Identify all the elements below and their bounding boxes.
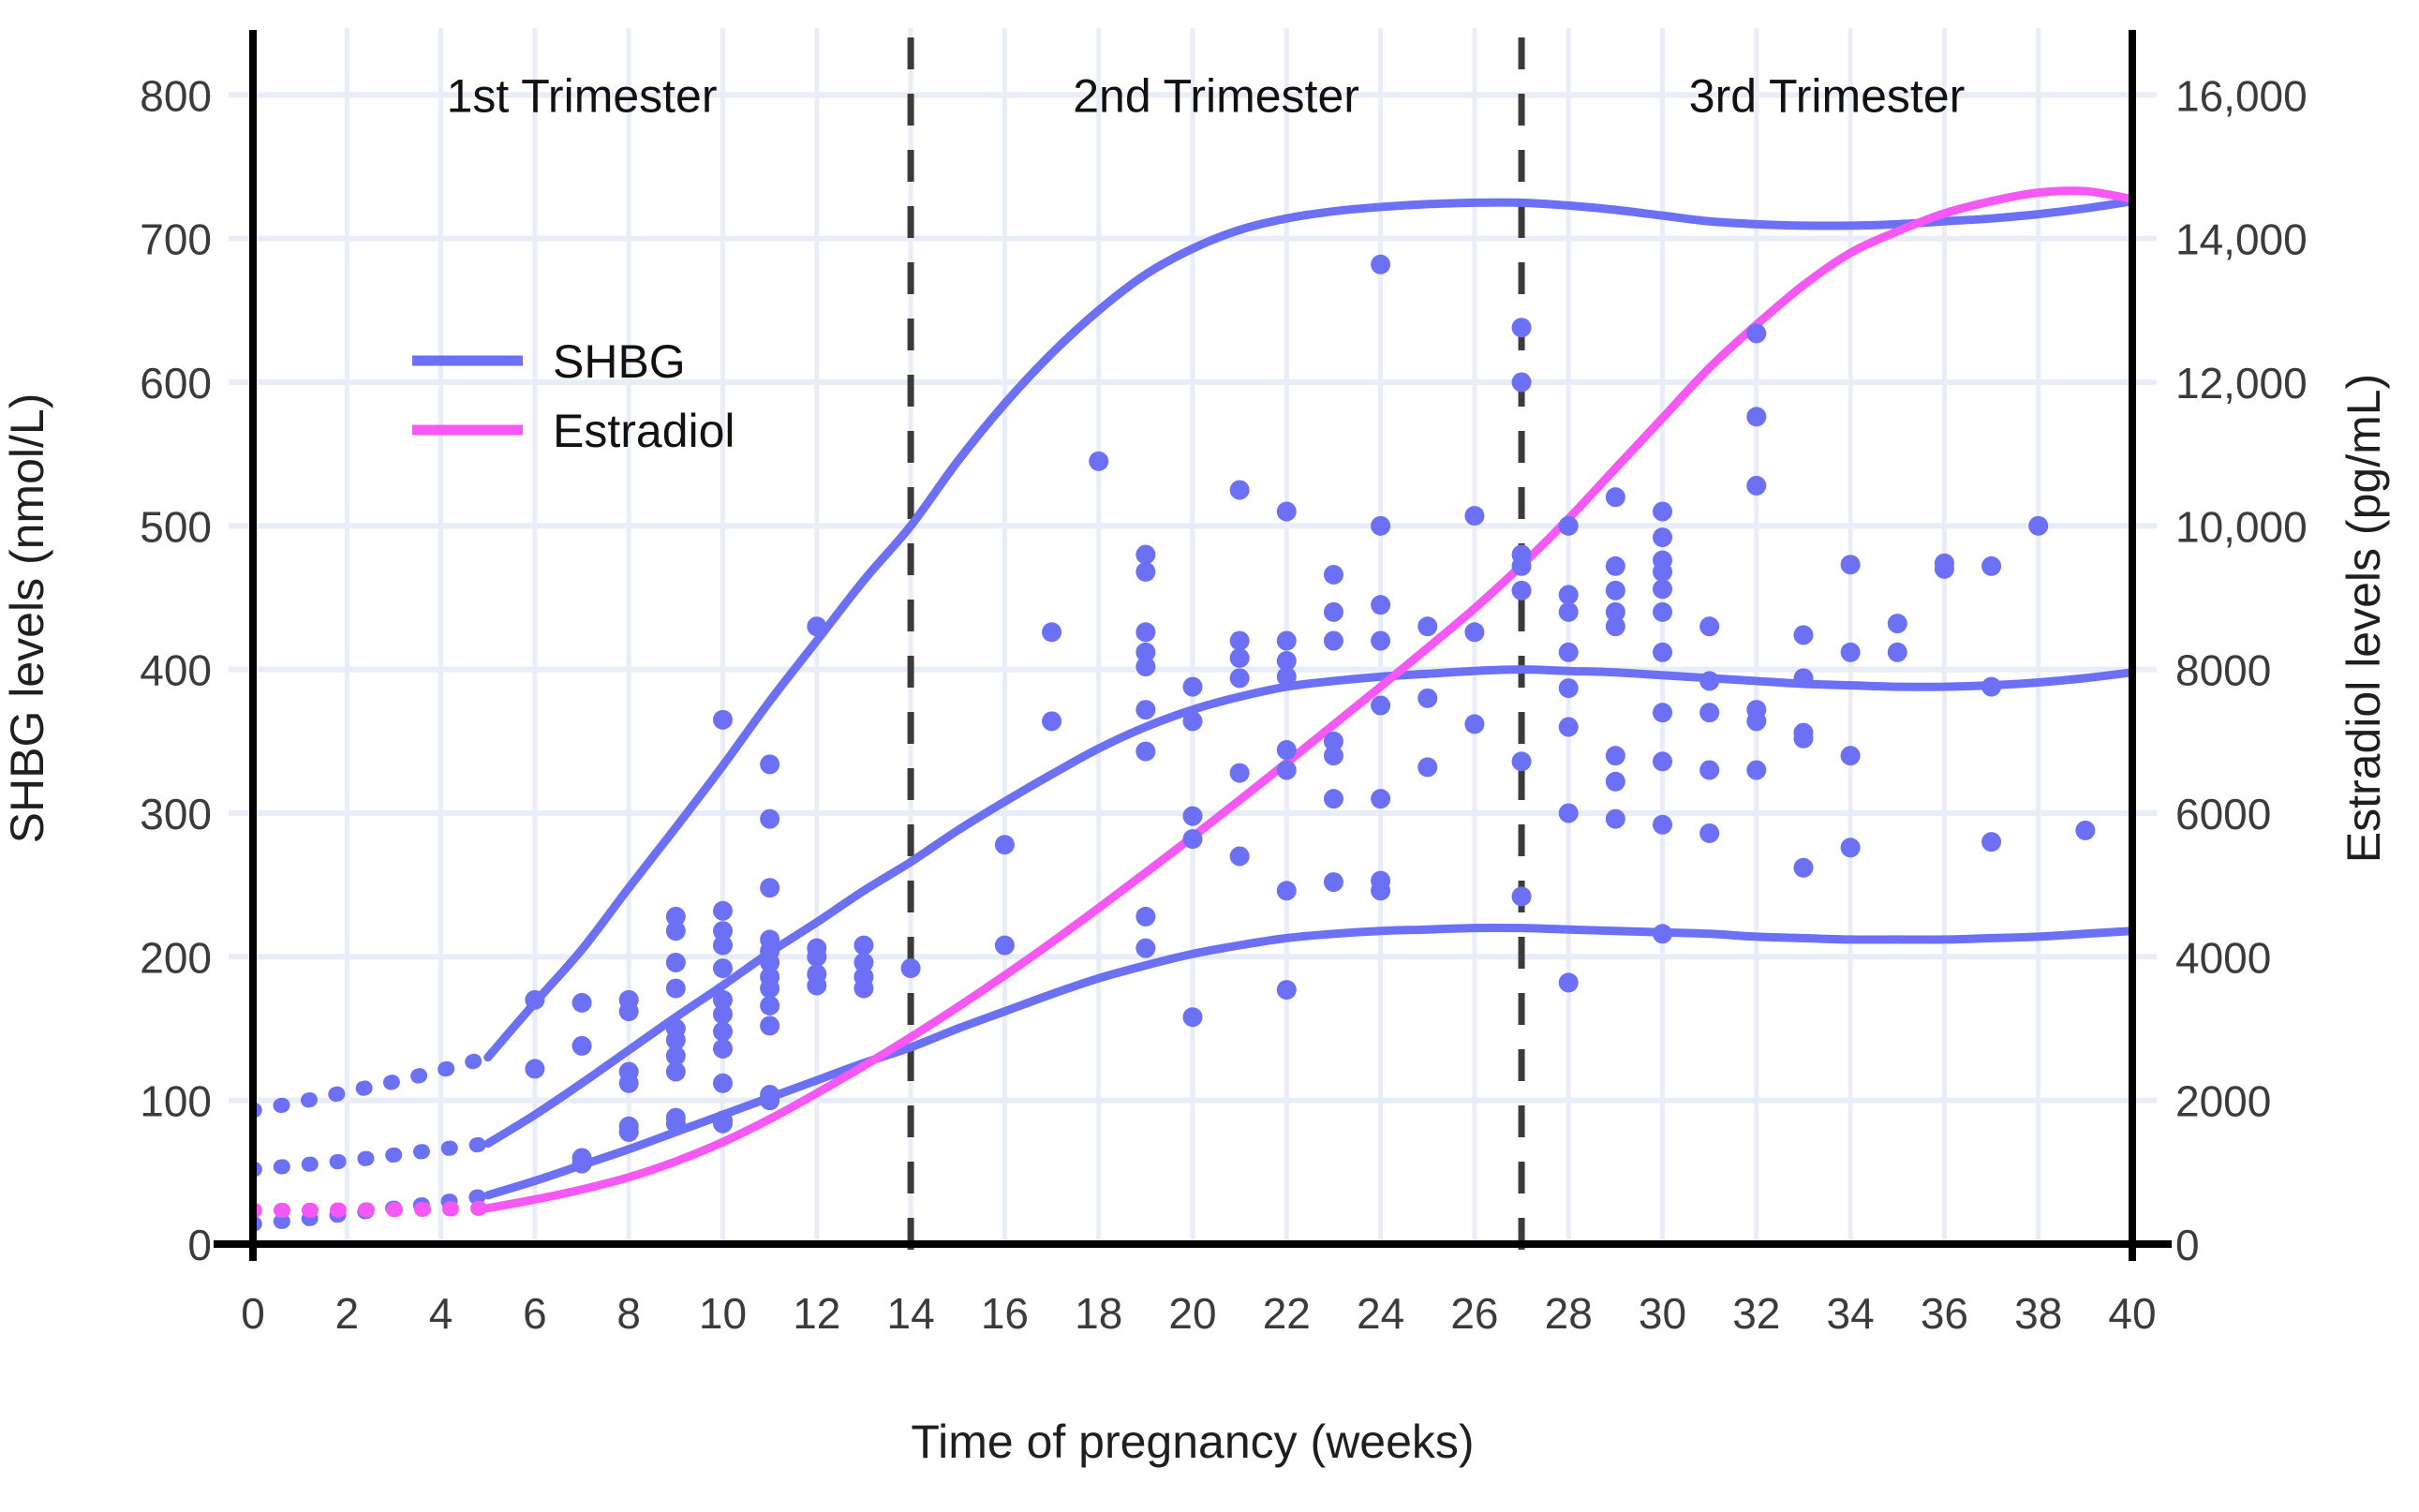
scatter-point bbox=[666, 979, 686, 999]
scatter-point bbox=[1135, 700, 1155, 719]
scatter-point bbox=[1793, 729, 1813, 749]
x-tick-label: 24 bbox=[1357, 1289, 1404, 1338]
scatter-point bbox=[760, 809, 779, 829]
scatter-point bbox=[572, 993, 592, 1013]
x-tick-label: 22 bbox=[1263, 1289, 1311, 1338]
scatter-point bbox=[1324, 631, 1343, 651]
x-tick-label: 18 bbox=[1075, 1289, 1122, 1338]
scatter-point bbox=[1371, 696, 1390, 716]
chart-canvas: 0246810121416182022242628303234363840 01… bbox=[0, 0, 2419, 1512]
x-tick-label: 28 bbox=[1545, 1289, 1593, 1338]
scatter-point bbox=[1277, 740, 1297, 760]
scatter-point bbox=[1653, 527, 1672, 547]
scatter-point bbox=[1042, 622, 1061, 642]
scatter-point bbox=[1371, 516, 1390, 536]
scatter-point bbox=[760, 996, 779, 1015]
scatter-point bbox=[1793, 625, 1813, 645]
scatter-point bbox=[1699, 823, 1719, 843]
secondary-y-tick-label: 4000 bbox=[2175, 933, 2271, 982]
secondary-y-tick-label: 0 bbox=[2175, 1221, 2200, 1269]
scatter-point bbox=[1699, 616, 1719, 636]
scatter-point bbox=[1793, 858, 1813, 878]
scatter-point bbox=[807, 976, 826, 996]
scatter-point bbox=[1559, 516, 1579, 536]
scatter-point bbox=[1230, 648, 1250, 668]
scatter-point bbox=[1512, 581, 1532, 600]
scatter-point bbox=[1277, 980, 1297, 1000]
scatter-point bbox=[1512, 373, 1532, 393]
x-tick-label: 12 bbox=[793, 1289, 840, 1338]
scatter-point bbox=[572, 1149, 592, 1168]
scatter-point bbox=[1324, 565, 1343, 585]
y-tick-label: 100 bbox=[140, 1077, 212, 1126]
scatter-point bbox=[1653, 924, 1672, 943]
scatter-point bbox=[1559, 718, 1579, 737]
scatter-point bbox=[1559, 585, 1579, 604]
figure-background bbox=[0, 0, 2419, 1512]
trend-line bbox=[253, 1208, 488, 1210]
scatter-point bbox=[1841, 746, 1861, 765]
x-tick-label: 4 bbox=[429, 1289, 453, 1338]
scatter-point bbox=[1512, 751, 1532, 771]
scatter-point bbox=[1653, 703, 1672, 722]
scatter-point bbox=[1793, 668, 1813, 688]
scatter-point bbox=[1699, 671, 1719, 690]
y-axis-title: SHBG levels (nmol/L) bbox=[1, 393, 53, 844]
scatter-point bbox=[1135, 545, 1155, 565]
scatter-point bbox=[1935, 559, 1954, 579]
scatter-point bbox=[1653, 602, 1672, 622]
scatter-point bbox=[572, 1036, 592, 1056]
scatter-point bbox=[1183, 711, 1203, 731]
scatter-point bbox=[1371, 595, 1390, 615]
scatter-point bbox=[1135, 622, 1155, 642]
scatter-point bbox=[853, 979, 873, 999]
scatter-point bbox=[1746, 323, 1766, 343]
y-tick-label: 400 bbox=[140, 646, 212, 695]
y-tick-label: 0 bbox=[187, 1221, 212, 1269]
scatter-point bbox=[713, 1074, 733, 1093]
x-tick-label: 40 bbox=[2108, 1289, 2156, 1338]
legend-label: SHBG bbox=[553, 335, 686, 388]
x-tick-label: 32 bbox=[1732, 1289, 1780, 1338]
scatter-point bbox=[1653, 562, 1672, 582]
scatter-point bbox=[1277, 881, 1297, 900]
scatter-point bbox=[525, 990, 544, 1010]
scatter-point bbox=[2075, 821, 2095, 840]
scatter-point bbox=[807, 947, 826, 967]
scatter-point bbox=[619, 1074, 639, 1093]
x-tick-label: 34 bbox=[1827, 1289, 1875, 1338]
scatter-point bbox=[619, 1122, 639, 1142]
y-tick-label: 500 bbox=[140, 502, 212, 551]
scatter-point bbox=[1746, 711, 1766, 731]
scatter-point bbox=[1277, 667, 1297, 687]
x-tick-label: 16 bbox=[981, 1289, 1029, 1338]
scatter-point bbox=[1606, 556, 1625, 576]
scatter-point bbox=[1183, 807, 1203, 826]
scatter-point bbox=[760, 1090, 779, 1110]
scatter-point bbox=[995, 936, 1015, 956]
secondary-y-tick-label: 12,000 bbox=[2175, 359, 2308, 408]
scatter-point bbox=[1324, 746, 1343, 765]
trimester-label: 1st Trimester bbox=[447, 69, 718, 122]
scatter-point bbox=[760, 754, 779, 774]
secondary-y-tick-label: 6000 bbox=[2175, 790, 2271, 838]
scatter-point bbox=[1183, 677, 1203, 697]
scatter-point bbox=[1324, 789, 1343, 808]
x-axis-title: Time of pregnancy (weeks) bbox=[911, 1416, 1474, 1468]
x-tick-label: 30 bbox=[1639, 1289, 1686, 1338]
scatter-point bbox=[1699, 761, 1719, 780]
scatter-point bbox=[1324, 872, 1343, 892]
scatter-point bbox=[760, 1015, 779, 1035]
chart-figure: 0246810121416182022242628303234363840 01… bbox=[0, 0, 2419, 1512]
scatter-point bbox=[713, 936, 733, 956]
scatter-point bbox=[713, 958, 733, 978]
scatter-point bbox=[1089, 452, 1108, 471]
trimester-label: 3rd Trimester bbox=[1689, 69, 1966, 122]
trimester-label: 2nd Trimester bbox=[1073, 69, 1359, 122]
scatter-point bbox=[1606, 772, 1625, 792]
scatter-point bbox=[1981, 677, 2001, 697]
scatter-point bbox=[1464, 622, 1484, 642]
scatter-point bbox=[1746, 407, 1766, 426]
scatter-point bbox=[666, 1062, 686, 1082]
scatter-point bbox=[1888, 643, 1907, 662]
scatter-point bbox=[713, 1039, 733, 1059]
x-tick-label: 14 bbox=[887, 1289, 935, 1338]
scatter-point bbox=[1841, 555, 1861, 574]
scatter-point bbox=[1230, 668, 1250, 688]
scatter-point bbox=[1230, 763, 1250, 783]
scatter-point bbox=[713, 1022, 733, 1042]
x-tick-label: 36 bbox=[1921, 1289, 1968, 1338]
scatter-point bbox=[1559, 678, 1579, 698]
scatter-point bbox=[1135, 657, 1155, 676]
scatter-point bbox=[1371, 871, 1390, 891]
scatter-point bbox=[1135, 907, 1155, 926]
scatter-point bbox=[1653, 643, 1672, 662]
scatter-point bbox=[1888, 614, 1907, 633]
scatter-point bbox=[619, 1001, 639, 1021]
scatter-point bbox=[853, 936, 873, 956]
scatter-point bbox=[666, 953, 686, 972]
scatter-point bbox=[1981, 556, 2001, 576]
y-axis-tick-labels: 0100200300400500600700800 bbox=[140, 71, 212, 1269]
x-tick-label: 26 bbox=[1450, 1289, 1498, 1338]
scatter-point bbox=[1606, 809, 1625, 829]
scatter-point bbox=[1981, 832, 2001, 852]
scatter-point bbox=[1559, 643, 1579, 662]
scatter-point bbox=[1746, 476, 1766, 496]
scatter-point bbox=[1746, 761, 1766, 780]
scatter-point bbox=[666, 1114, 686, 1134]
scatter-point bbox=[1606, 487, 1625, 507]
scatter-point bbox=[1606, 616, 1625, 636]
x-tick-label: 6 bbox=[523, 1289, 547, 1338]
scatter-point bbox=[1183, 1007, 1203, 1027]
scatter-point bbox=[1371, 255, 1390, 274]
legend-label: Estradiol bbox=[553, 405, 735, 457]
scatter-point bbox=[1277, 502, 1297, 522]
scatter-point bbox=[1230, 631, 1250, 651]
scatter-point bbox=[1371, 631, 1390, 651]
scatter-point bbox=[525, 1059, 544, 1078]
scatter-point bbox=[995, 835, 1015, 854]
scatter-point bbox=[1606, 581, 1625, 600]
scatter-point bbox=[713, 1004, 733, 1024]
x-tick-label: 8 bbox=[616, 1289, 641, 1338]
scatter-point bbox=[1230, 847, 1250, 867]
y-tick-label: 800 bbox=[140, 71, 212, 120]
secondary-y-tick-label: 8000 bbox=[2175, 646, 2271, 695]
y-tick-label: 300 bbox=[140, 790, 212, 838]
scatter-point bbox=[1653, 815, 1672, 835]
scatter-point bbox=[1512, 886, 1532, 906]
scatter-point bbox=[1699, 703, 1719, 722]
scatter-point bbox=[1653, 502, 1672, 522]
scatter-point bbox=[713, 710, 733, 730]
scatter-point bbox=[901, 958, 921, 978]
scatter-point bbox=[713, 1114, 733, 1134]
scatter-point bbox=[760, 878, 779, 897]
x-tick-label: 38 bbox=[2014, 1289, 2062, 1338]
scatter-point bbox=[1135, 562, 1155, 582]
scatter-point bbox=[1559, 804, 1579, 823]
scatter-point bbox=[1559, 972, 1579, 992]
secondary-y-axis-title: Estradiol levels (pg/mL) bbox=[2337, 374, 2390, 863]
scatter-point bbox=[2028, 516, 2048, 536]
scatter-point bbox=[760, 979, 779, 999]
trimester-annotations: 1st Trimester2nd Trimester3rd Trimester bbox=[447, 69, 1966, 122]
scatter-point bbox=[1183, 829, 1203, 849]
scatter-point bbox=[1277, 631, 1297, 651]
scatter-point bbox=[807, 616, 826, 636]
x-tick-label: 0 bbox=[241, 1289, 265, 1338]
scatter-point bbox=[1417, 689, 1437, 708]
x-axis-tick-labels: 0246810121416182022242628303234363840 bbox=[241, 1289, 2156, 1338]
scatter-point bbox=[1277, 761, 1297, 780]
scatter-point bbox=[1230, 481, 1250, 500]
scatter-point bbox=[1464, 506, 1484, 526]
x-tick-label: 20 bbox=[1168, 1289, 1216, 1338]
scatter-point bbox=[1135, 939, 1155, 958]
scatter-point bbox=[1464, 714, 1484, 734]
scatter-point bbox=[1559, 602, 1579, 622]
x-tick-label: 2 bbox=[335, 1289, 360, 1338]
scatter-point bbox=[1371, 789, 1390, 808]
scatter-point bbox=[1606, 746, 1625, 765]
y-tick-label: 600 bbox=[140, 359, 212, 408]
scatter-point bbox=[1042, 711, 1061, 731]
secondary-y-tick-label: 14,000 bbox=[2175, 215, 2308, 264]
scatter-point bbox=[1653, 579, 1672, 599]
scatter-point bbox=[1324, 602, 1343, 622]
scatter-point bbox=[1841, 838, 1861, 857]
scatter-point bbox=[1653, 751, 1672, 771]
y-tick-label: 700 bbox=[140, 215, 212, 264]
y-tick-label: 200 bbox=[140, 933, 212, 982]
scatter-point bbox=[1841, 643, 1861, 662]
secondary-y-tick-label: 16,000 bbox=[2175, 71, 2308, 120]
scatter-point bbox=[713, 901, 733, 921]
scatter-point bbox=[1512, 556, 1532, 576]
secondary-y-tick-label: 10,000 bbox=[2175, 502, 2308, 551]
scatter-point bbox=[666, 921, 686, 941]
scatter-point bbox=[1417, 616, 1437, 636]
scatter-point bbox=[1512, 318, 1532, 337]
secondary-y-tick-label: 2000 bbox=[2175, 1077, 2271, 1126]
scatter-point bbox=[1135, 742, 1155, 762]
scatter-point bbox=[1417, 757, 1437, 777]
x-tick-label: 10 bbox=[699, 1289, 747, 1338]
